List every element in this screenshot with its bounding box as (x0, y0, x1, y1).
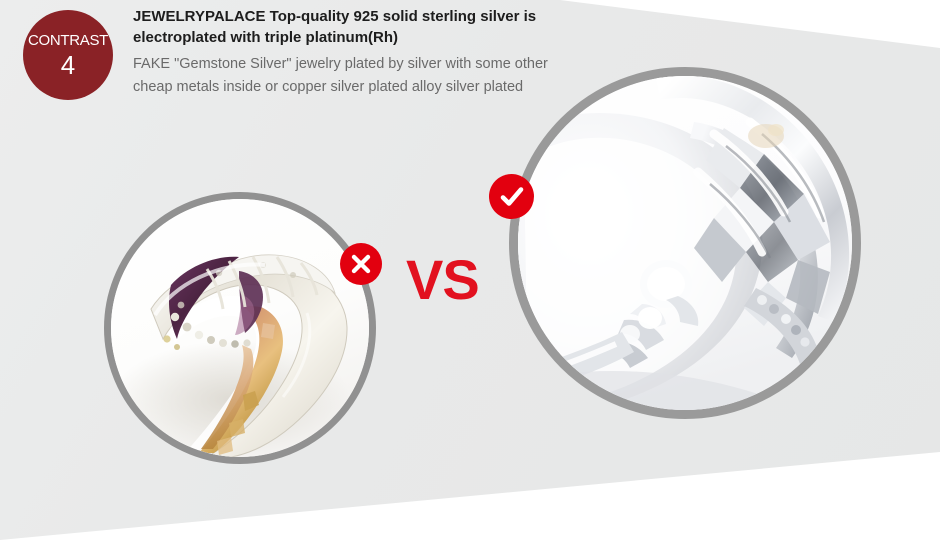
comparison-banner: CONTRAST 4 JEWELRYPALACE Top-quality 925… (0, 0, 940, 542)
vs-label: VS (406, 252, 479, 308)
subcopy-text: FAKE "Gemstone Silver" jewelry plated by… (133, 53, 563, 99)
copy-block: JEWELRYPALACE Top-quality 925 solid ster… (133, 6, 563, 99)
contrast-badge-number: 4 (61, 52, 75, 78)
contrast-badge-label: CONTRAST (28, 33, 108, 48)
headline-text: JEWELRYPALACE Top-quality 925 solid ster… (133, 6, 563, 48)
approve-marker (489, 174, 534, 219)
fake-ring-image (111, 199, 369, 457)
check-mark-icon (499, 185, 525, 209)
genuine-ring-photo (509, 67, 861, 419)
fake-ring-photo (104, 192, 376, 464)
reject-marker (340, 243, 382, 285)
contrast-badge: CONTRAST 4 (23, 10, 113, 100)
x-mark-icon (350, 253, 372, 275)
genuine-ring-image (518, 76, 852, 410)
